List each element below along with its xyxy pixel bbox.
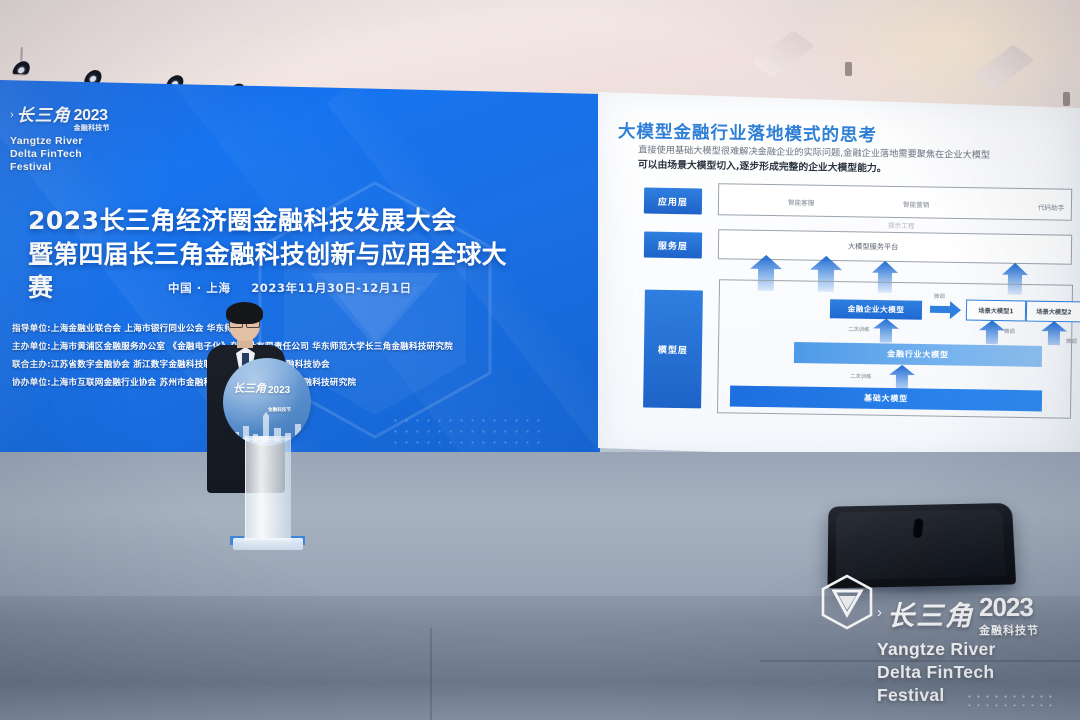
slide-diagram: 应用层 智能客服 智能营销 代码助手 提示工程 服务层 大模型服务平台: [598, 92, 1080, 464]
layer-tag-application: 应用层: [644, 188, 702, 215]
podium-emblem: 长三角 2023 金融科技节: [223, 358, 311, 446]
event-logo-en: Yangtze River Delta FinTech Festival: [10, 135, 140, 174]
event-logo-festival-cn: 金融科技节: [74, 125, 110, 132]
arrow-label-finetune-2: 微调: [1004, 327, 1015, 335]
watermark-arrow-icon: ›: [877, 604, 882, 621]
event-logo-en-line2: Delta FinTech: [10, 148, 140, 161]
podium-emblem-cn: 长三角: [233, 380, 266, 396]
layer-tag-service: 服务层: [644, 232, 702, 259]
presentation-screen: 大模型金融行业落地模式的思考 直接使用基础大模型很难解决金融企业的实际问题,金融…: [598, 92, 1080, 464]
ceiling-fixture: [845, 62, 852, 76]
app-item-marketing: 智能营销: [903, 199, 930, 209]
arrow-label-secondary-training-1: 二次训练: [848, 325, 870, 333]
app-item-code-assistant: 代码助手: [1038, 202, 1065, 212]
event-logo-en-line3: Festival: [10, 161, 140, 174]
conference-stage-photo: › 长三角 2023 金融科技节 Yangtze River Delta Fin…: [0, 0, 1080, 720]
watermark-dot-pattern: [965, 692, 1055, 706]
band-industry-llm: 金融行业大模型: [794, 342, 1042, 367]
industry-to-enterprise-arrows: [858, 318, 1080, 346]
podium: 长三角 2023 金融科技节: [223, 358, 311, 554]
event-logo-arrow-icon: ›: [10, 108, 14, 122]
watermark-cn-mark: 长三角: [887, 594, 974, 633]
chip-scene-model-2: 场景大模型2: [1026, 301, 1080, 323]
watermark-cn-block: › 长三角 2023 金融科技节: [877, 594, 1039, 638]
arrow-label-finetune-3: 微调: [1066, 337, 1077, 345]
watermark-logo: › 长三角 2023 金融科技节 Yangtze River Delta Fin…: [815, 572, 1077, 714]
hexagon-logo-icon: [821, 574, 873, 630]
podium-stem: [245, 436, 291, 540]
event-logo-cn: › 长三角 2023 金融科技节: [10, 108, 140, 132]
event-date-location: 中国 · 上海 2023年11月30日-12月1日: [168, 280, 412, 296]
watermark-festival-cn: 金融科技节: [979, 622, 1039, 638]
watermark-en-line1: Yangtze River: [877, 638, 996, 661]
app-item-customer-service: 智能客服: [788, 197, 815, 207]
watermark-en-line2: Delta FinTech: [877, 661, 996, 684]
arrow-label-secondary-training-2: 二次训练: [850, 372, 872, 380]
glasses-icon: [229, 319, 260, 327]
service-item-platform: 大模型服务平台: [848, 242, 898, 253]
organizer-label: 主办单位:: [12, 342, 51, 352]
event-logo-cn-mark: 长三角: [17, 108, 71, 126]
organizer-label: 协办单位:: [12, 378, 51, 388]
podium-emblem-year: 2023: [268, 385, 290, 396]
chip-scene-model-1: 场景大模型1: [966, 300, 1026, 322]
organizer-label: 指导单位:: [12, 324, 51, 334]
event-logo: › 长三角 2023 金融科技节 Yangtze River Delta Fin…: [10, 108, 140, 175]
arrow-label-finetune-1: 微调: [934, 292, 945, 300]
prompt-engineering-note: 提示工程: [888, 220, 915, 230]
finetune-right-arrow: [928, 300, 962, 321]
floor-seam: [430, 628, 432, 720]
event-logo-year: 2023: [74, 108, 110, 125]
event-logo-en-line1: Yangtze River: [10, 135, 140, 148]
organizer-label: 联合主办:: [12, 360, 51, 370]
layer-tag-model: 模型层: [643, 290, 703, 409]
watermark-year: 2023: [979, 594, 1039, 620]
event-city: 中国 · 上海: [168, 281, 231, 295]
podium-base: [233, 538, 303, 550]
application-layer-box: [718, 183, 1072, 221]
chip-enterprise-llm: 金融企业大模型: [830, 299, 922, 319]
event-headline-line1: 2023长三角经济圈金融科技发展大会: [28, 204, 528, 238]
base-to-industry-arrow: [880, 365, 930, 390]
stage-light: [12, 61, 32, 74]
event-date-range: 2023年11月30日-12月1日: [251, 281, 412, 295]
